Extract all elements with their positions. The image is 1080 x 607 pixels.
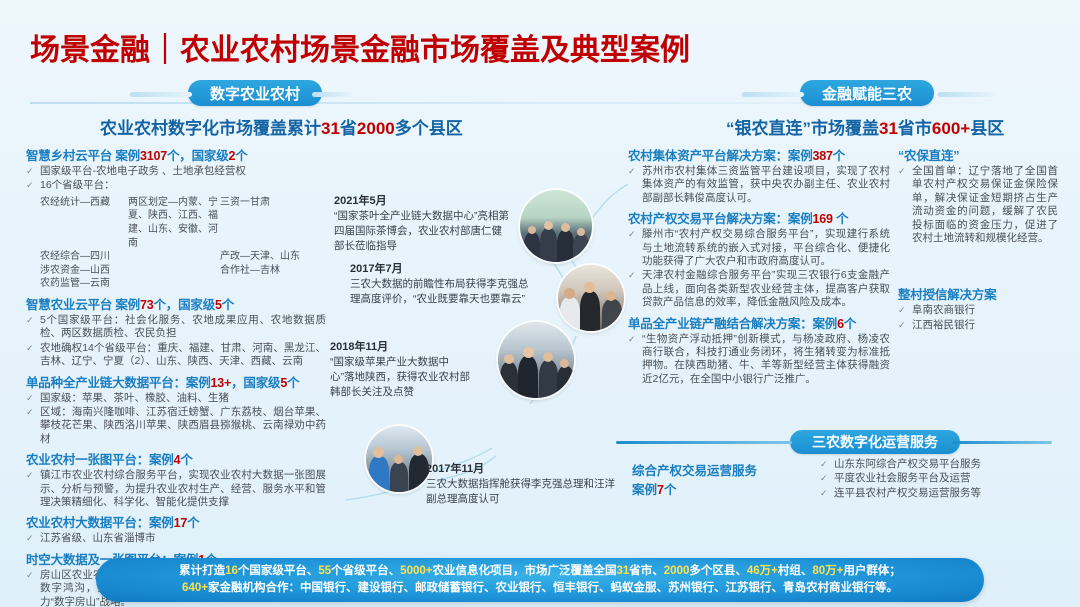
- ops-left-line2-num: 7: [657, 483, 664, 497]
- banner-line1-part-9: 省市、: [629, 565, 664, 577]
- left-block-5-item-1: 江苏省级、山东省淄博市: [26, 532, 326, 545]
- ops-left-label: 综合产权交易运营服务 案例7个: [632, 462, 782, 500]
- ops-pill-rule-left: [616, 441, 792, 444]
- province-cell-7: 涉农资金—山西: [40, 264, 128, 278]
- left-block-5-title: 农业农村大数据平台：案例17个: [26, 515, 326, 531]
- province-cell-12: [220, 277, 330, 291]
- timeline-item-4-desc: 三农大数据指挥舱获得李克强总理和汪洋副总理高度认可: [426, 477, 616, 507]
- right-side-block-1-item-1: 全国首单：辽宁落地了全国首单农村产权交易保证金保险保单，解决保证金短期挤占生产流…: [898, 165, 1058, 245]
- right-side-block-2-list: 阜南农商银行江西裕民银行: [898, 304, 1058, 332]
- left-block-3-item-1: 国家级：苹果、茶叶、橡胶、油料、生猪: [26, 392, 326, 405]
- province-cell-6: 产改—天津、山东: [220, 250, 330, 264]
- right-block-3: 单品全产业链产融结合解决方案：案例6个“生物资产浮动抵押”创新模式，与杨凌政府、…: [628, 316, 890, 387]
- right-block-3-title: 单品全产业链产融结合解决方案：案例6个: [628, 316, 890, 332]
- left-block-2-title-num2: 5: [215, 298, 222, 312]
- timeline-item-2: 2017年7月 三农大数据的前瞻性布局获得李克强总理高度评价，“农业既要靠天也要…: [350, 262, 536, 307]
- right-block-1-item-1: 苏州市农村集体三资监管平台建设项目，实现了农村集体资产的有效监管，获中央农办副主…: [628, 165, 890, 205]
- left-block-2-list: 5个国家级平台：社会化服务、农地成果应用、农地数据质检、两区数据质检、农民负担农…: [26, 314, 326, 369]
- left-block-1-item-2: 16个省级平台：: [26, 179, 326, 192]
- left-block-2-title-mid: 个，国家级: [154, 298, 216, 312]
- timeline-item-2-desc: 三农大数据的前瞻性布局获得李克强总理高度评价，“农业既要靠天也要靠云”: [350, 277, 536, 307]
- timeline-panel: 2021年5月 “国家茶叶全产业链大数据中心”亮相第四届国际茶博会，农业农村部唐…: [330, 180, 630, 510]
- province-cell-1: 农经统计—西藏: [40, 196, 128, 250]
- headline-left-num1: 31: [321, 119, 340, 138]
- headline-left: 农业农村数字化市场覆盖累计31省2000多个县区: [100, 114, 463, 139]
- pill-tail-right: [742, 92, 804, 97]
- pill-tail-left2: [312, 92, 352, 97]
- right-block-1-title: 农村集体资产平台解决方案：案例387个: [628, 148, 890, 164]
- left-block-1-title-post: 个: [235, 149, 247, 163]
- left-block-3-title-post: 个: [287, 376, 299, 390]
- ops-left-line1: 综合产权交易运营服务: [632, 462, 782, 481]
- left-block-2-title-num: 73: [140, 298, 154, 312]
- timeline-item-3-date: 2018年11月: [330, 340, 470, 355]
- left-block-1-title-num: 3107: [140, 149, 167, 163]
- right-side-block-2-title: 整村授信解决方案: [898, 287, 1058, 303]
- ops-item-2: 平度农业社会服务平台及运营: [820, 472, 1060, 485]
- province-cell-8: [128, 264, 220, 278]
- timeline-item-4-date: 2017年11月: [426, 462, 616, 477]
- left-block-5-list: 江苏省级、山东省淄博市: [26, 532, 326, 545]
- timeline-photo-1: [520, 190, 592, 262]
- left-block-2-title-post: 个: [222, 298, 234, 312]
- left-block-5-title-pre: 农业农村大数据平台：案例: [26, 516, 174, 530]
- left-block-2-title-pre: 智慧农业云平台 案例: [26, 298, 140, 312]
- right-block-3-title-num: 6: [837, 317, 844, 331]
- right-block-2-title: 农村产权交易平台解决方案：案例169 个: [628, 211, 890, 227]
- left-block-4-list: 镇江市农业农村综合服务平台，实现农业农村大数据一张图展示、分析与预警，为提升农业…: [26, 469, 326, 509]
- ops-left-line2-post: 个: [664, 483, 677, 497]
- left-block-3-item-2: 区域：海南兴隆咖啡、江苏宿迁螃蟹、广东荔枝、烟台苹果、攀枝花芒果、陕西洛川苹果、…: [26, 406, 326, 446]
- left-block-2: 智慧农业云平台 案例73个，国家级5个5个国家级平台：社会化服务、农地成果应用、…: [26, 297, 326, 369]
- left-block-4-title-post: 个: [180, 453, 192, 467]
- left-block-2-item-2: 农地确权14个省级平台：重庆、福建、甘肃、河南、黑龙江、吉林、辽宁、宁夏（2）、…: [26, 342, 326, 369]
- right-block-2-list: 滕州市“农村产权交易综合服务平台”，实现建行系统与土地流转系统的嵌入式对接，平台…: [628, 228, 890, 309]
- banner-line1-part-14: 80万+: [812, 565, 843, 577]
- summary-banner: 累计打造16个国家级平台、55个省级平台、5000+农业信息化项目，市场广泛覆盖…: [96, 558, 984, 602]
- right-block-2-title-pre: 农村产权交易平台解决方案：案例: [628, 212, 813, 226]
- right-block-2: 农村产权交易平台解决方案：案例169 个滕州市“农村产权交易综合服务平台”，实现…: [628, 211, 890, 309]
- right-block-2-item-2: 天津农村金融综合服务平台”实现三农银行6支金融产品上线，面向各类新型农业经营主体…: [628, 269, 890, 309]
- pill-tail-right2: [938, 92, 994, 97]
- right-column-main: 农村集体资产平台解决方案：案例387个苏州市农村集体三资监管平台建设项目，实现了…: [628, 148, 890, 392]
- headline-right-post: 县区: [970, 119, 1004, 138]
- province-cell-11: [128, 277, 220, 291]
- section-pill-ops-service: 三农数字化运营服务: [790, 430, 960, 454]
- right-block-1-title-pre: 农村集体资产平台解决方案：案例: [628, 149, 813, 163]
- banner-line1-part-12: 46万+: [747, 565, 778, 577]
- province-cell-4: 农经综合—四川: [40, 250, 128, 264]
- banner-line1-part-5: 个省级平台、: [331, 565, 400, 577]
- headline-right-pre: “银农直连”市场覆盖: [726, 119, 879, 138]
- province-cell-5: [128, 250, 220, 264]
- banner-line1-part-13: 村组、: [778, 565, 813, 577]
- ops-right-list: 山东东阿综合产权交易平台服务平度农业社会服务平台及运营连平县农村产权交易运营服务…: [820, 458, 1060, 501]
- left-block-3: 单品种全产业链大数据平台：案例13+，国家级5个国家级：苹果、茶叶、橡胶、油料、…: [26, 375, 326, 447]
- headline-left-pre: 农业农村数字化市场覆盖累计: [100, 119, 321, 138]
- right-block-3-item-1: “生物资产浮动抵押”创新模式，与杨凌政府、杨凌农商行联合，科技打通业务闭环，将生…: [628, 333, 890, 387]
- left-block-4: 农业农村一张图平台：案例4个镇江市农业农村综合服务平台，实现农业农村大数据一张图…: [26, 452, 326, 509]
- left-block-4-title: 农业农村一张图平台：案例4个: [26, 452, 326, 468]
- right-side-block-2: 整村授信解决方案阜南农商银行江西裕民银行: [898, 287, 1058, 332]
- province-cell-10: 农药监管—云南: [40, 277, 128, 291]
- banner-line1-part-8: 31: [616, 565, 629, 577]
- right-column-side: “农保直连”全国首单：辽宁落地了全国首单农村产权交易保证金保险保单，解决保证金短…: [898, 148, 1058, 338]
- left-block-5: 农业农村大数据平台：案例17个江苏省级、山东省淄博市: [26, 515, 326, 545]
- timeline-item-2-date: 2017年7月: [350, 262, 536, 277]
- banner-line1-part-3: 个国家级平台、: [238, 565, 319, 577]
- ops-pill-rule-right: [952, 441, 1052, 444]
- right-block-2-title-num: 169: [813, 212, 833, 226]
- right-block-1-title-num: 387: [813, 149, 833, 163]
- ops-item-1: 山东东阿综合产权交易平台服务: [820, 458, 1060, 471]
- timeline-item-1-desc: “国家茶叶全产业链大数据中心”亮相第四届国际茶博会，农业农村部唐仁健部长莅临指导: [334, 209, 510, 254]
- page-title: 场景金融｜农业农村场景金融市场覆盖及典型案例: [30, 30, 1050, 74]
- banner-line1-part-10: 2000: [664, 565, 690, 577]
- left-block-1: 智慧乡村云平台 案例3107个，国家级2个国家级平台-农地电子政务 、土地承包经…: [26, 148, 326, 291]
- headline-right: “银农直连”市场覆盖31省市600+县区: [726, 114, 1004, 139]
- headline-left-mid: 省: [340, 119, 357, 138]
- right-block-3-title-pre: 单品全产业链产融结合解决方案：案例: [628, 317, 837, 331]
- left-column: 智慧乡村云平台 案例3107个，国家级2个国家级平台-农地电子政务 、土地承包经…: [26, 148, 326, 607]
- right-side-block-1: “农保直连”全国首单：辽宁落地了全国首单农村产权交易保证金保险保单，解决保证金短…: [898, 148, 1058, 245]
- headline-right-num1: 31: [879, 119, 898, 138]
- left-block-3-title-mid: ，国家级: [231, 376, 280, 390]
- left-block-4-title-pre: 农业农村一张图平台：案例: [26, 453, 174, 467]
- right-block-1-list: 苏州市农村集体三资监管平台建设项目，实现了农村集体资产的有效监管，获中央农办副主…: [628, 165, 890, 205]
- left-block-1-list: 国家级平台-农地电子政务 、土地承包经营权16个省级平台：: [26, 165, 326, 193]
- timeline-photo-4: [366, 426, 432, 492]
- banner-line1-part-1: 累计打造: [179, 565, 225, 577]
- banner-line1-part-15: 用户群体；: [843, 565, 901, 577]
- summary-banner-line2: 640+家金融机构合作：中国银行、建设银行、邮政储蓄银行、农业银行、恒丰银行、蚂…: [182, 580, 898, 597]
- timeline-photo-3: [498, 322, 574, 398]
- left-block-3-list: 国家级：苹果、茶叶、橡胶、油料、生猪区域：海南兴隆咖啡、江苏宿迁螃蟹、广东荔枝、…: [26, 392, 326, 447]
- banner-line1-part-4: 55: [318, 565, 331, 577]
- section-pill-digital-agriculture: 数字农业农村: [188, 80, 322, 106]
- timeline-item-1: 2021年5月 “国家茶叶全产业链大数据中心”亮相第四届国际茶博会，农业农村部唐…: [334, 194, 510, 254]
- ops-left-line2: 案例7个: [632, 481, 782, 500]
- banner-line2-part-1: 640+: [182, 582, 208, 594]
- left-block-4-item-1: 镇江市农业农村综合服务平台，实现农业农村大数据一张图展示、分析与预警，为提升农业…: [26, 469, 326, 509]
- right-block-1: 农村集体资产平台解决方案：案例387个苏州市农村集体三资监管平台建设项目，实现了…: [628, 148, 890, 205]
- left-block-2-title: 智慧农业云平台 案例73个，国家级5个: [26, 297, 326, 313]
- ops-left-line2-pre: 案例: [632, 483, 657, 497]
- left-block-1-title-mid: 个，国家级: [167, 149, 229, 163]
- right-block-1-title-post: 个: [833, 149, 845, 163]
- left-block-2-item-1: 5个国家级平台：社会化服务、农地成果应用、农地数据质检、两区数据质检、农民负担: [26, 314, 326, 341]
- banner-line1-part-6: 5000+: [400, 565, 432, 577]
- pill-tail-left: [130, 92, 192, 97]
- timeline-item-3: 2018年11月 “国家级苹果产业大数据中心”落地陕西，获得农业农村部韩部长关注…: [330, 340, 470, 400]
- summary-banner-line1: 累计打造16个国家级平台、55个省级平台、5000+农业信息化项目，市场广泛覆盖…: [179, 563, 901, 580]
- left-block-5-title-post: 个: [187, 516, 199, 530]
- right-block-2-item-1: 滕州市“农村产权交易综合服务平台”，实现建行系统与土地流转系统的嵌入式对接，平台…: [628, 228, 890, 268]
- left-block-3-title: 单品种全产业链大数据平台：案例13+，国家级5个: [26, 375, 326, 391]
- timeline-item-1-date: 2021年5月: [334, 194, 510, 209]
- banner-line1-part-11: 多个区县、: [689, 565, 747, 577]
- headline-right-mid: 省市: [898, 119, 932, 138]
- province-cell-3: 三资一甘肃: [220, 196, 330, 250]
- banner-line2-part-2: 家金融机构合作：中国银行、建设银行、邮政储蓄银行、农业银行、恒丰银行、蚂蚁金服、…: [208, 582, 898, 594]
- ops-item-3: 连平县农村产权交易运营服务等: [820, 487, 1060, 500]
- right-side-block-1-title: “农保直连”: [898, 148, 1058, 164]
- page-title-text: 场景金融｜农业农村场景金融市场覆盖及典型案例: [30, 30, 1050, 72]
- right-block-3-title-post: 个: [844, 317, 856, 331]
- left-block-1-item-1: 国家级平台-农地电子政务 、土地承包经营权: [26, 165, 326, 178]
- headline-right-num2: 600+: [932, 119, 970, 138]
- province-cell-9: 合作社—吉林: [220, 264, 330, 278]
- timeline-item-4: 2017年11月 三农大数据指挥舱获得李克强总理和汪洋副总理高度认可: [426, 462, 616, 507]
- timeline-item-3-desc: “国家级苹果产业大数据中心”落地陕西，获得农业农村部韩部长关注及点赞: [330, 355, 470, 400]
- province-cell-2: 两区划定—内蒙、宁夏、陕西、江西、福建、山东、安徽、河南: [128, 196, 220, 250]
- left-block-3-title-num: 13+: [211, 376, 232, 390]
- left-block-3-title-pre: 单品种全产业链大数据平台：案例: [26, 376, 211, 390]
- headline-left-post: 多个县区: [395, 119, 463, 138]
- banner-line1-part-2: 16: [225, 565, 238, 577]
- left-block-5-title-num: 17: [174, 516, 188, 530]
- headline-left-num2: 2000: [357, 119, 395, 138]
- right-side-block-1-list: 全国首单：辽宁落地了全国首单农村产权交易保证金保险保单，解决保证金短期挤占生产流…: [898, 165, 1058, 245]
- section-pill-finance-empowerment: 金融赋能三农: [800, 80, 934, 106]
- right-side-block-2-item-2: 江西裕民银行: [898, 319, 1058, 332]
- ops-items-list: 山东东阿综合产权交易平台服务平度农业社会服务平台及运营连平县农村产权交易运营服务…: [820, 458, 1060, 500]
- left-block-1-province-grid: 农经统计—西藏两区划定—内蒙、宁夏、陕西、江西、福建、山东、安徽、河南三资一甘肃…: [40, 196, 326, 291]
- left-block-1-title-pre: 智慧乡村云平台 案例: [26, 149, 140, 163]
- left-block-1-title: 智慧乡村云平台 案例3107个，国家级2个: [26, 148, 326, 164]
- right-block-3-list: “生物资产浮动抵押”创新模式，与杨凌政府、杨凌农商行联合，科技打通业务闭环，将生…: [628, 333, 890, 387]
- banner-line1-part-7: 农业信息化项目，市场广泛覆盖全国: [432, 565, 616, 577]
- right-side-block-2-item-1: 阜南农商银行: [898, 304, 1058, 317]
- right-block-2-title-post: 个: [833, 212, 849, 226]
